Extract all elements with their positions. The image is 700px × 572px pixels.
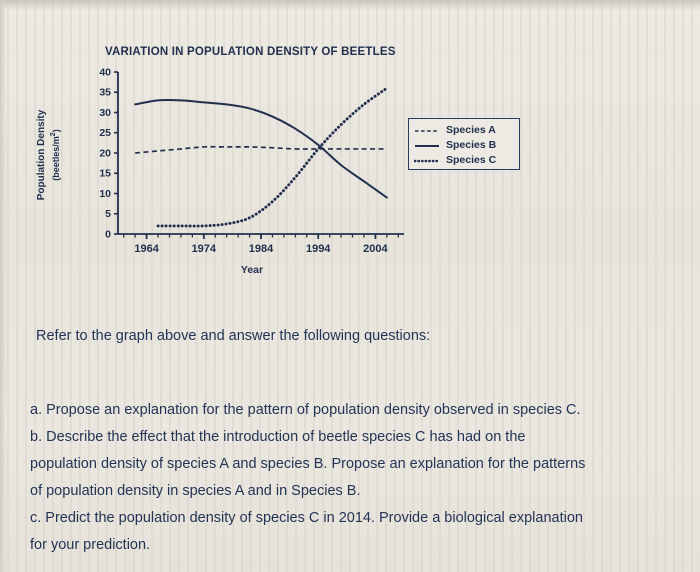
question-c-line2: for your prediction. [30,533,690,558]
y-tick-label: 35 [99,87,111,99]
question-c-line1: c. Predict the population density of spe… [30,506,690,531]
legend-item-species-b: Species B [414,138,514,152]
y-tick-label: 10 [99,188,111,200]
legend-item-species-a: Species A [414,123,514,137]
y-tick-label: 25 [99,127,111,139]
y-tick-label: 15 [99,168,111,180]
chart-title: VARIATION IN POPULATION DENSITY OF BEETL… [105,46,396,58]
x-tick-label: 1994 [306,243,331,255]
question-b-line1: b. Describe the effect that the introduc… [30,425,690,450]
legend-key-solid [414,139,440,151]
y-tick-label: 40 [99,66,111,78]
chart-legend: Species A Species B Species C [408,118,520,170]
y-tick-label: 30 [99,107,111,119]
x-tick-label: 1974 [192,243,217,255]
legend-label-species-a: Species A [446,124,496,136]
legend-item-species-c: Species C [414,153,514,167]
plot-svg: 051015202530354019641974198419942004 [92,66,412,266]
legend-key-dashed [414,124,440,136]
y-axis-label: Population Density (beetles/m2) [36,100,62,210]
question-b-line2: population density of species A and spec… [30,452,690,477]
series-line-species-a [135,147,387,153]
x-axis-label: Year [92,264,412,276]
question-a: a. Propose an explanation for the patter… [30,398,690,423]
questions-block: a. Propose an explanation for the patter… [30,398,690,560]
series-line-species-c [158,88,387,226]
y-tick-label: 0 [105,228,111,240]
beetle-population-chart: VARIATION IN POPULATION DENSITY OF BEETL… [40,42,560,282]
legend-label-species-c: Species C [446,154,496,166]
plot-region: 051015202530354019641974198419942004 [92,66,412,246]
question-b-line3: of population density in species A and i… [30,479,690,504]
y-axis-label-text: Population Density [36,100,48,210]
x-tick-label: 1984 [249,243,274,255]
legend-label-species-b: Species B [446,139,496,151]
x-tick-label: 2004 [363,243,388,255]
worksheet-page: VARIATION IN POPULATION DENSITY OF BEETL… [0,0,700,572]
y-axis-unit-text: (beetles/m2) [48,100,62,210]
legend-key-dotted [414,154,440,166]
y-tick-label: 5 [105,208,111,220]
x-tick-label: 1964 [134,243,159,255]
y-tick-label: 20 [99,147,111,159]
prompt-text: Refer to the graph above and answer the … [36,328,430,344]
